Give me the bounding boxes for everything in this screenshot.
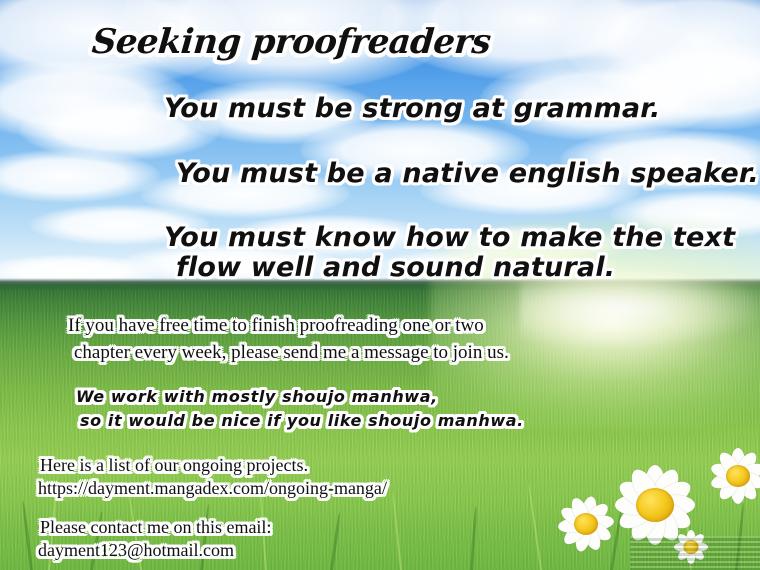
contact-label: Please contact me on this email: — [40, 518, 271, 537]
contact-email-link[interactable]: dayment123@hotmail.com — [38, 541, 234, 560]
requirement-line-native-speaker: You must be a native english speaker. — [176, 159, 759, 188]
genre-note-line-2: so it would be nice if you like shoujo m… — [80, 412, 524, 429]
availability-line-1: If you have free time to finish proofrea… — [68, 316, 484, 337]
requirement-line-text-flow-a: You must know how to make the text — [164, 223, 735, 252]
availability-line-2: chapter every week, please send me a mes… — [74, 343, 509, 364]
daisy-flower-small-left — [548, 486, 624, 562]
compression-artifact-band — [630, 536, 760, 570]
projects-url-link[interactable]: https://dayment.mangadex.com/ongoing-man… — [38, 479, 387, 498]
requirement-line-text-flow-b: flow well and sound natural. — [176, 253, 615, 282]
daisy-flower-small-right — [700, 438, 760, 514]
requirement-line-grammar: You must be strong at grammar. — [164, 94, 660, 123]
genre-note-line-1: We work with mostly shoujo manhwa, — [76, 388, 438, 405]
projects-label: Here is a list of our ongoing projects. — [40, 456, 308, 475]
page-title: Seeking proofreaders — [90, 24, 492, 61]
proofreader-recruitment-poster: Seeking proofreaders You must be strong … — [0, 0, 760, 570]
